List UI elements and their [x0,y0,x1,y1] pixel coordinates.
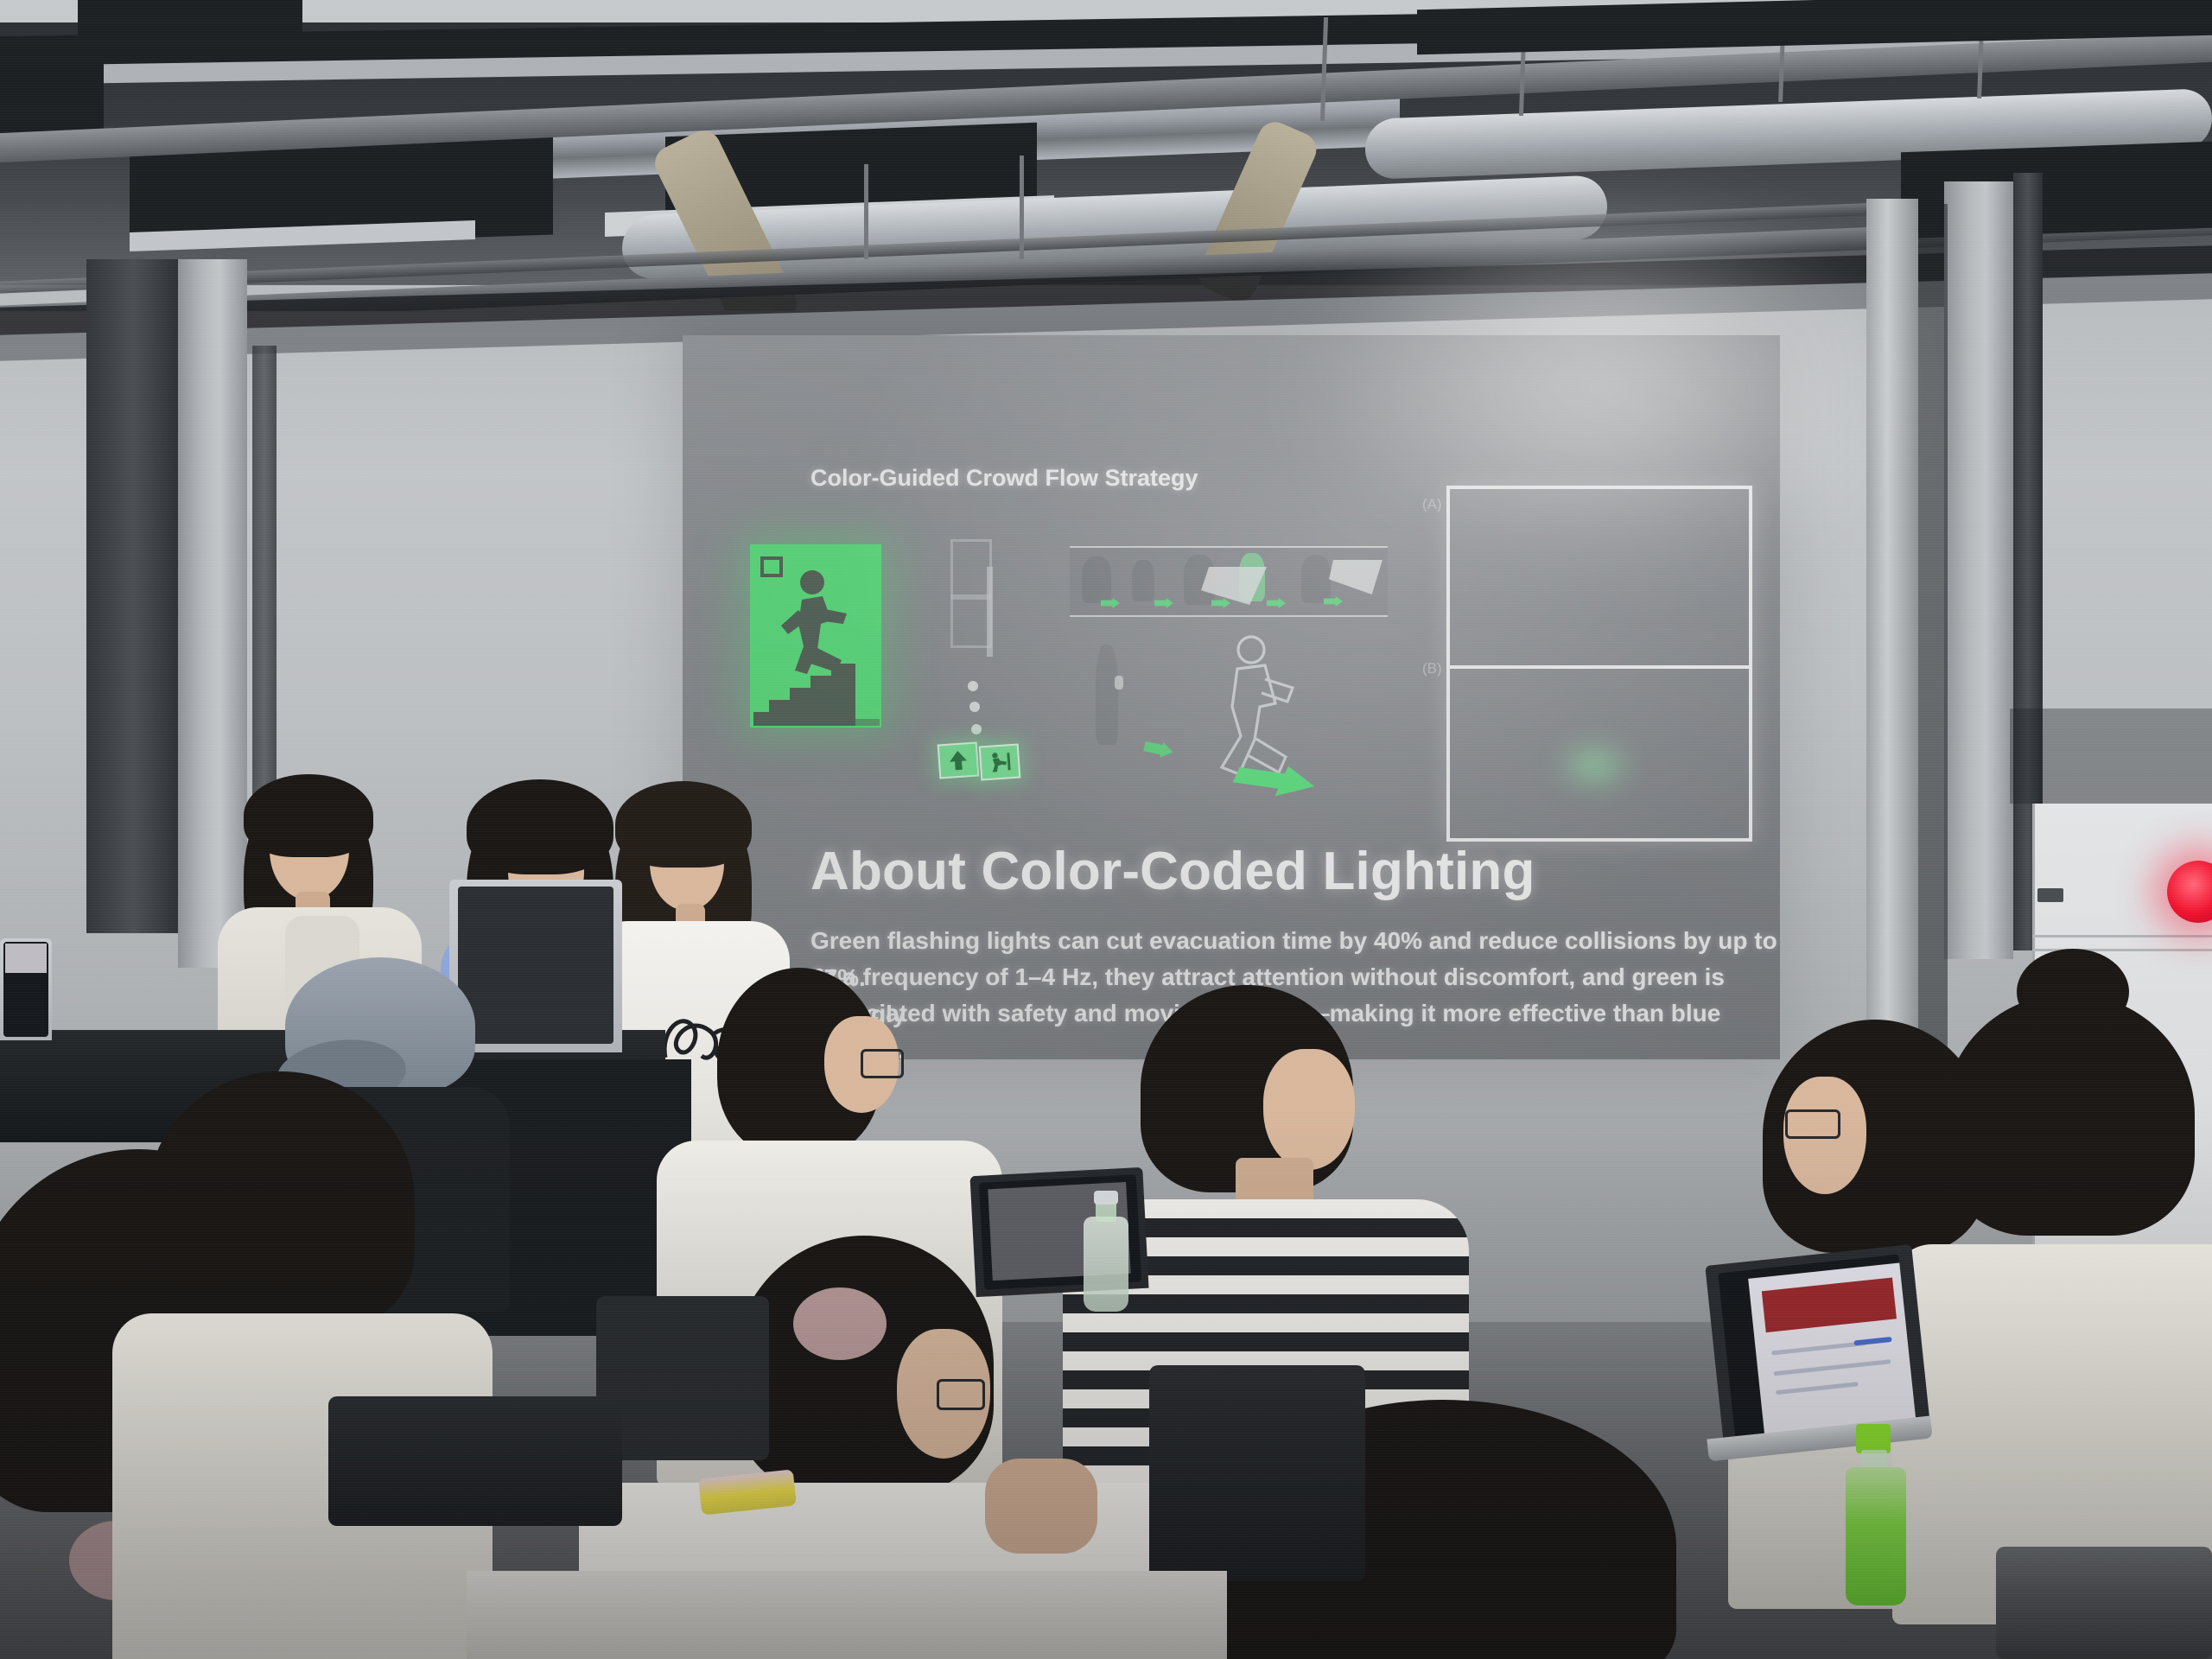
projection-screen: (A) (B) Color-Guided Crowd Flow Strategy… [683,335,1780,1059]
screenshot-root: 消 火 [0,0,2212,1659]
column-left [86,259,181,933]
glasses [861,1049,904,1078]
column-right [1944,181,2013,959]
column-left-face [178,259,247,968]
foreground-shadow [0,1106,2212,1659]
cabinet-handle[interactable] [2037,888,2063,902]
